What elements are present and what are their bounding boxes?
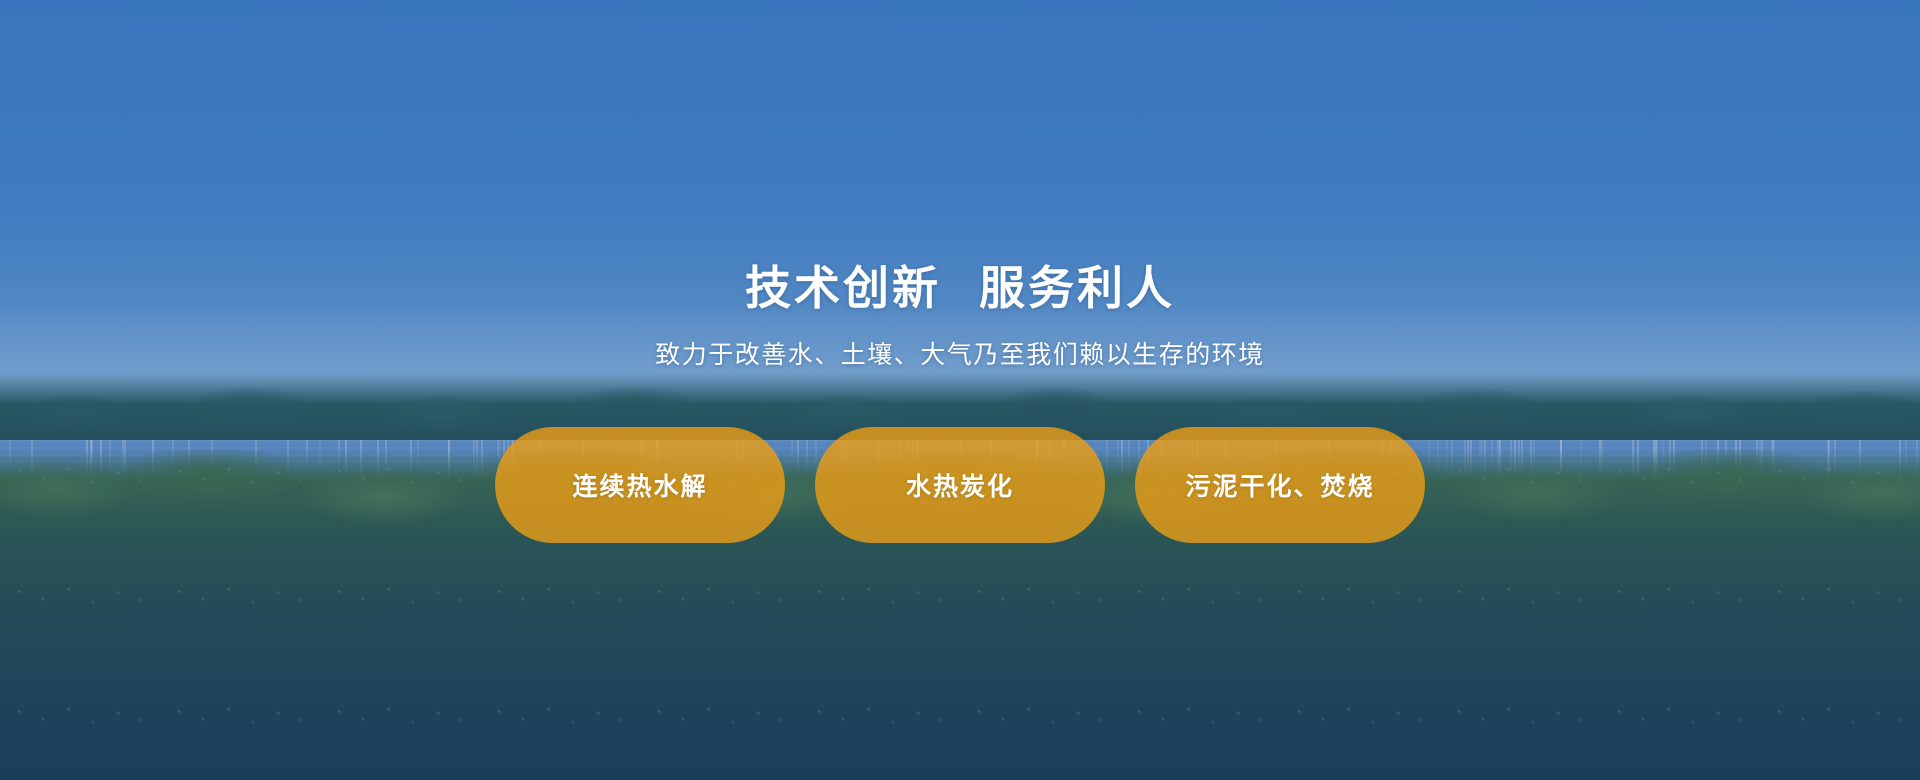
- hero-button-sludge-drying-incineration[interactable]: 污泥干化、焚烧: [1135, 427, 1425, 543]
- hero-content: 技术创新 服务利人 致力于改善水、土壤、大气乃至我们赖以生存的环境 连续热水解 …: [0, 0, 1920, 780]
- hero-banner: 技术创新 服务利人 致力于改善水、土壤、大气乃至我们赖以生存的环境 连续热水解 …: [0, 0, 1920, 780]
- hero-title: 技术创新 服务利人: [745, 262, 1175, 315]
- hero-button-continuous-thermal-hydrolysis[interactable]: 连续热水解: [495, 427, 785, 543]
- hero-subtitle: 致力于改善水、土壤、大气乃至我们赖以生存的环境: [655, 335, 1265, 371]
- hero-button-group: 连续热水解 水热炭化 污泥干化、焚烧: [495, 427, 1425, 543]
- hero-button-hydrothermal-carbonization[interactable]: 水热炭化: [815, 427, 1105, 543]
